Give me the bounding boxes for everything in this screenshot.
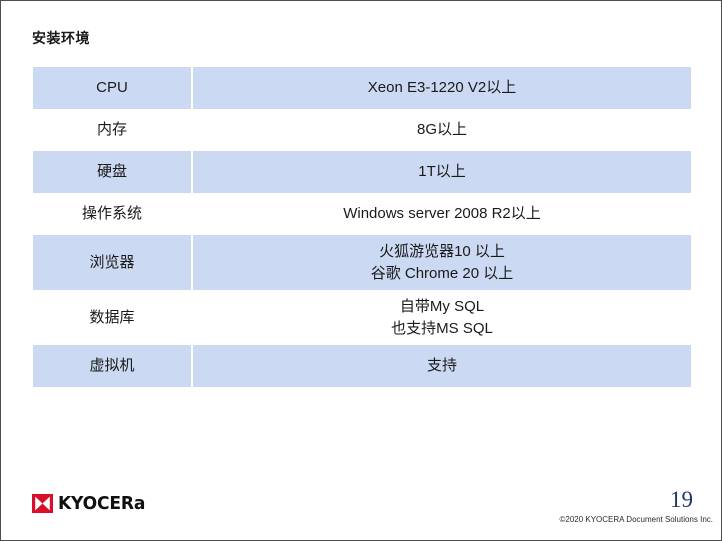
table-row: 虚拟机支持 — [33, 345, 691, 387]
installation-environment-table: CPUXeon E3-1220 V2以上内存8G以上硬盘1T以上操作系统Wind… — [33, 67, 691, 387]
table-cell-label: 浏览器 — [33, 235, 191, 290]
table-cell-value: 火狐游览器10 以上谷歌 Chrome 20 以上 — [193, 235, 691, 290]
table-cell-value: 1T以上 — [193, 151, 691, 193]
slide: 安装环境 CPUXeon E3-1220 V2以上内存8G以上硬盘1T以上操作系… — [0, 0, 722, 541]
table-row: 硬盘1T以上 — [33, 151, 691, 193]
table-cell-label: 内存 — [33, 109, 191, 151]
table-cell-value: Xeon E3-1220 V2以上 — [193, 67, 691, 109]
table-cell-value: Windows server 2008 R2以上 — [193, 193, 691, 235]
row-label: 操作系统 — [33, 203, 191, 225]
row-value-line: 自带My SQL — [197, 296, 687, 318]
row-label: 浏览器 — [33, 252, 191, 274]
table-cell-value: 8G以上 — [193, 109, 691, 151]
table-cell-label: 虚拟机 — [33, 345, 191, 387]
table-row: 操作系统Windows server 2008 R2以上 — [33, 193, 691, 235]
row-value-line: 火狐游览器10 以上 — [197, 241, 687, 263]
row-label: 内存 — [33, 119, 191, 141]
table-cell-label: 数据库 — [33, 290, 191, 345]
table-cell-value: 支持 — [193, 345, 691, 387]
copyright-notice: ©2020 KYOCERA Document Solutions Inc. — [559, 514, 713, 525]
row-value: 支持 — [193, 355, 691, 377]
table-body: CPUXeon E3-1220 V2以上内存8G以上硬盘1T以上操作系统Wind… — [33, 67, 691, 387]
kyocera-logo: KYOCERa — [32, 492, 150, 514]
row-value-line: 也支持MS SQL — [197, 318, 687, 340]
kyocera-logo-mark-icon — [32, 494, 53, 513]
row-label: 虚拟机 — [33, 355, 191, 377]
table-row: 浏览器火狐游览器10 以上谷歌 Chrome 20 以上 — [33, 235, 691, 290]
row-value-line: 8G以上 — [197, 119, 687, 141]
row-label: 数据库 — [33, 307, 191, 329]
row-value-line: 谷歌 Chrome 20 以上 — [197, 263, 687, 285]
row-value-line: 支持 — [197, 355, 687, 377]
row-value-line: 1T以上 — [197, 161, 687, 183]
row-value: Windows server 2008 R2以上 — [193, 203, 691, 225]
table-cell-label: CPU — [33, 67, 191, 109]
row-label: 硬盘 — [33, 161, 191, 183]
row-value: 自带My SQL也支持MS SQL — [193, 296, 691, 340]
kyocera-wordmark: KYOCERa — [58, 494, 145, 513]
row-value-line: Xeon E3-1220 V2以上 — [197, 77, 687, 99]
row-value: 8G以上 — [193, 119, 691, 141]
table-row: 数据库自带My SQL也支持MS SQL — [33, 290, 691, 345]
row-value: 1T以上 — [193, 161, 691, 183]
table-cell-label: 硬盘 — [33, 151, 191, 193]
table-row: CPUXeon E3-1220 V2以上 — [33, 67, 691, 109]
row-label: CPU — [33, 77, 191, 99]
table-cell-label: 操作系统 — [33, 193, 191, 235]
page-number: 19 — [670, 487, 693, 513]
row-value-line: Windows server 2008 R2以上 — [197, 203, 687, 225]
table-row: 内存8G以上 — [33, 109, 691, 151]
table-cell-value: 自带My SQL也支持MS SQL — [193, 290, 691, 345]
row-value: Xeon E3-1220 V2以上 — [193, 77, 691, 99]
page-title: 安装环境 — [32, 28, 90, 48]
row-value: 火狐游览器10 以上谷歌 Chrome 20 以上 — [193, 241, 691, 285]
